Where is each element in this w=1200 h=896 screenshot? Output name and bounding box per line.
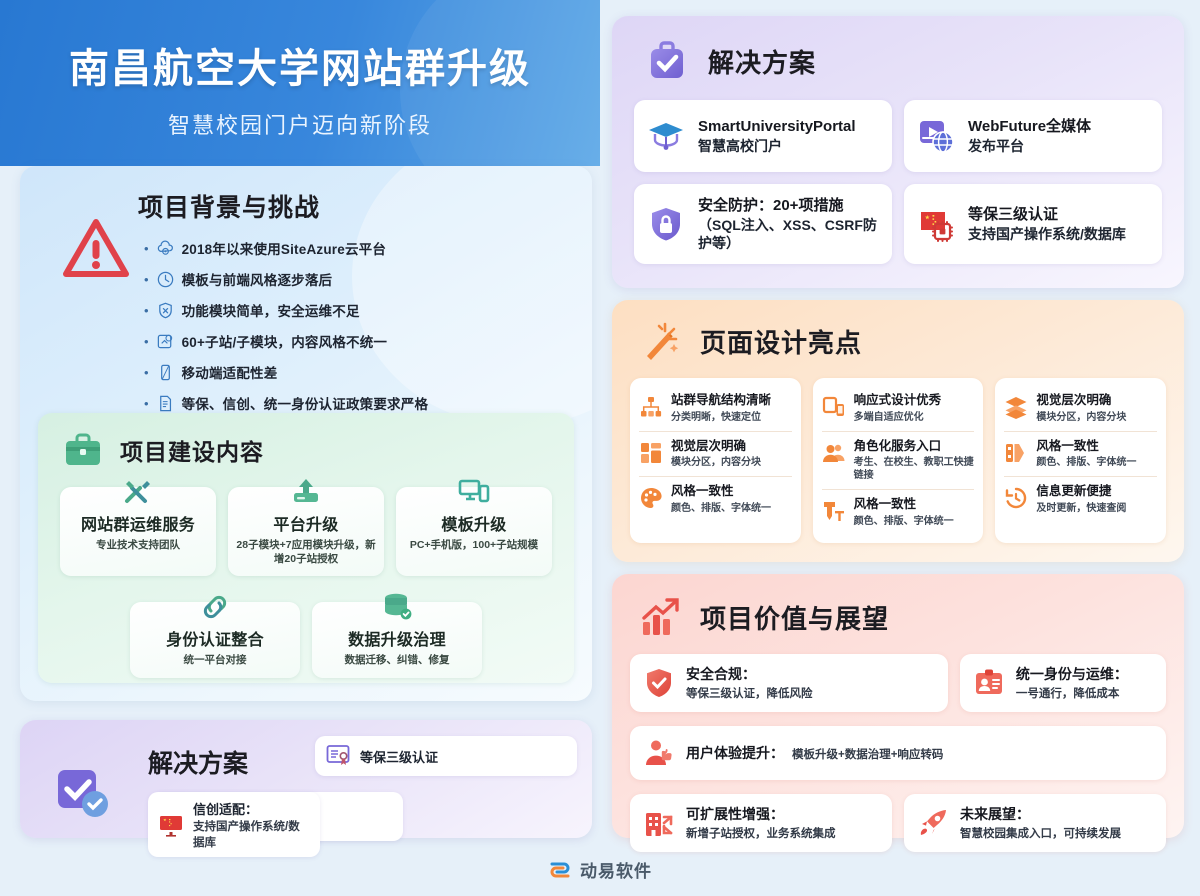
- list-item: • 2018年以来使用SiteAzure云平台: [144, 238, 592, 258]
- construction-card[interactable]: 身份认证整合 统一平台对接: [130, 602, 300, 677]
- value-row-2: 用户体验提升： 模板升级+数据治理+响应转码: [612, 712, 1184, 780]
- solution-left-title: 解决方案: [148, 744, 248, 780]
- value-row-3: 可扩展性增强：新增子站授权，业务系统集成 未来展望：智慧校园集成入口，可持续发展: [612, 780, 1184, 852]
- palette-icon: [639, 486, 663, 510]
- shield-x-icon: [156, 301, 175, 320]
- item-desc: 模块分区，内容分块: [671, 456, 761, 469]
- design-column: 视觉层次明确模块分区，内容分块 风格一致性颜色、排版、字体统一 信息更新便捷及时…: [995, 378, 1166, 543]
- check-briefcase-icon: [644, 38, 690, 84]
- design-item[interactable]: 风格一致性颜色、排版、字体统一: [1004, 431, 1157, 477]
- history-clock-icon: [1004, 486, 1028, 510]
- design-item[interactable]: 角色化服务入口考生、在校生、教职工快捷链接: [822, 431, 975, 490]
- card-desc: 28子模块+7应用模块升级，新增20子站授权: [234, 538, 378, 566]
- panel-solution-summary: 解决方案 等保三级认证 多终端适配： PC、手机、平板自适应 信创适配：: [20, 720, 592, 838]
- background-title: 项目背景与挑战: [138, 188, 592, 224]
- value-card[interactable]: 用户体验提升： 模板升级+数据治理+响应转码: [630, 726, 1166, 780]
- typography-icon: [822, 499, 846, 523]
- list-item: • 60+子站/子模块，内容风格不统一: [144, 331, 592, 351]
- card-title: 等保三级认证: [360, 747, 438, 766]
- card-desc: 一号通行，降低成本: [1016, 685, 1128, 701]
- bullet-dot: •: [144, 397, 149, 410]
- solution-card[interactable]: 安全防护：20+项措施 （SQL注入、XSS、CSRF防护等）: [634, 184, 892, 264]
- card-title: 身份认证整合: [136, 626, 294, 650]
- card-line1: 等保三级认证: [968, 205, 1126, 225]
- card-desc: 智慧校园集成入口，可持续发展: [960, 825, 1121, 841]
- card-title: 数据升级治理: [318, 626, 476, 650]
- construction-title: 项目建设内容: [120, 433, 264, 467]
- users-icon: [822, 441, 846, 465]
- rocket-icon: [917, 807, 949, 839]
- graduation-cap-icon: [646, 116, 686, 156]
- layout-blocks-icon: [639, 441, 663, 465]
- list-item: • 模板与前端风格逐步落后: [144, 269, 592, 289]
- link-icon: [198, 590, 232, 624]
- list-item-label: 2018年以来使用SiteAzure云平台: [182, 238, 387, 258]
- list-item: • 功能模块简单，安全运维不足: [144, 300, 592, 320]
- list-item-label: 移动端适配性差: [182, 362, 278, 382]
- item-desc: 颜色、排版、字体统一: [854, 515, 954, 528]
- item-desc: 颜色、排版、字体统一: [671, 502, 771, 515]
- construction-card[interactable]: 数据升级治理 数据迁移、纠错、修复: [312, 602, 482, 677]
- magic-wand-icon: [638, 318, 684, 364]
- check-square-icon: [56, 768, 112, 820]
- design-title: 页面设计亮点: [700, 323, 862, 360]
- item-title: 风格一致性: [1036, 439, 1136, 455]
- card-line1: WebFuture全媒体: [968, 117, 1091, 137]
- bullet-dot: •: [144, 242, 149, 255]
- bullet-dot: •: [144, 366, 149, 379]
- panel-project-value: 项目价值与展望 安全合规：等保三级认证，降低风险 统一身份与运维：一号通行，降低…: [612, 574, 1184, 838]
- card-desc: 数据迁移、纠错、修复: [318, 653, 476, 667]
- cloud-gear-icon: [156, 239, 175, 258]
- item-title: 风格一致性: [671, 484, 771, 500]
- database-icon: [380, 590, 414, 624]
- list-item-label: 模板与前端风格逐步落后: [182, 269, 333, 289]
- design-item[interactable]: 风格一致性颜色、排版、字体统一: [639, 476, 792, 522]
- upload-icon: [289, 475, 323, 509]
- china-chip-icon: [916, 204, 956, 244]
- construction-card[interactable]: 网站群运维服务 专业技术支持团队: [60, 487, 216, 576]
- list-item-label: 60+子站/子模块，内容风格不统一: [182, 331, 388, 351]
- card-desc: 统一平台对接: [136, 653, 294, 667]
- list-item-label: 等保、信创、统一身份认证政策要求严格: [182, 393, 429, 413]
- infographic-page: 南昌航空大学网站群升级 智慧校园门户迈向新阶段 项目背景与挑战 • 2018年以…: [0, 0, 1200, 896]
- panel-project-background: 项目背景与挑战 • 2018年以来使用SiteAzure云平台 • 模板与前端风…: [20, 166, 592, 701]
- solution-card[interactable]: 信创适配： 支持国产操作系统/数据库: [148, 792, 320, 857]
- value-card[interactable]: 未来展望：智慧校园集成入口，可持续发展: [904, 794, 1166, 852]
- card-desc: 支持国产操作系统/数据库: [193, 818, 310, 850]
- sitemap-icon: [639, 395, 663, 419]
- list-item-label: 功能模块简单，安全运维不足: [182, 300, 360, 320]
- item-title: 视觉层次明确: [671, 439, 761, 455]
- devices-icon: [457, 475, 491, 509]
- list-item: • 等保、信创、统一身份认证政策要求严格: [144, 393, 592, 413]
- shield-check-icon: [643, 667, 675, 699]
- lock-shield-icon: [646, 204, 686, 244]
- bullet-dot: •: [144, 273, 149, 286]
- card-title: 未来展望：: [960, 805, 1121, 823]
- solution-card[interactable]: WebFuture全媒体 发布平台: [904, 100, 1162, 172]
- footer: 动易软件: [0, 857, 1200, 882]
- item-title: 信息更新便捷: [1036, 484, 1126, 500]
- page-subtitle: 智慧校园门户迈向新阶段: [0, 108, 600, 140]
- card-title: 平台升级: [234, 511, 378, 535]
- responsive-devices-icon: [822, 395, 846, 419]
- item-desc: 及时更新，快速查阅: [1036, 502, 1126, 515]
- construction-row-2: 身份认证整合 统一平台对接 数据升级治理 数据迁移、纠错、修复: [38, 576, 574, 677]
- layers-icon: [1004, 395, 1028, 419]
- china-monitor-icon: [158, 812, 184, 838]
- bullet-dot: •: [144, 335, 149, 348]
- item-desc: 考生、在校生、教职工快捷链接: [854, 456, 975, 482]
- certificate-icon: [325, 743, 351, 769]
- document-icon: [156, 394, 175, 413]
- panel-solutions: 解决方案 SmartUniversityPortal 智慧高校门户 WebFut…: [612, 16, 1184, 288]
- value-card[interactable]: 统一身份与运维：一号通行，降低成本: [960, 654, 1166, 712]
- construction-card[interactable]: 平台升级 28子模块+7应用模块升级，新增20子站授权: [228, 487, 384, 576]
- card-desc: 新增子站授权，业务系统集成: [686, 825, 836, 841]
- card-line1: 安全防护：20+项措施: [698, 196, 880, 216]
- tools-icon: [121, 475, 155, 509]
- design-column: 响应式设计优秀多端自适应优化 角色化服务入口考生、在校生、教职工快捷链接 风格一…: [813, 378, 984, 543]
- card-title-row: 用户体验提升： 模板升级+数据治理+响应转码: [686, 744, 943, 763]
- briefcase-icon: [60, 427, 106, 473]
- user-thumbsup-icon: [643, 737, 675, 769]
- network-grid-icon: [156, 332, 175, 351]
- solution-card[interactable]: 等保三级认证: [315, 736, 577, 776]
- value-row-1: 安全合规：等保三级认证，降低风险 统一身份与运维：一号通行，降低成本: [612, 640, 1184, 712]
- design-column: 站群导航结构清晰分类明晰，快速定位 视觉层次明确模块分区，内容分块 风格一致性颜…: [630, 378, 801, 543]
- item-desc: 颜色、排版、字体统一: [1036, 456, 1136, 469]
- page-title: 南昌航空大学网站群升级: [0, 36, 600, 94]
- design-item[interactable]: 视觉层次明确模块分区，内容分块: [1004, 386, 1157, 431]
- panel-construction-content: 项目建设内容 网站群运维服务 专业技术支持团队 平台升级 28子模块+7应用模块…: [38, 413, 574, 683]
- item-title: 站群导航结构清晰: [671, 393, 771, 409]
- card-title: 用户体验提升：: [686, 744, 784, 762]
- challenge-list: • 2018年以来使用SiteAzure云平台 • 模板与前端风格逐步落后 • …: [144, 238, 592, 413]
- growth-chart-icon: [638, 594, 684, 640]
- construction-row-1: 网站群运维服务 专业技术支持团队 平台升级 28子模块+7应用模块升级，新增20…: [38, 473, 574, 576]
- solutions-title: 解决方案: [708, 43, 816, 80]
- solution-card[interactable]: SmartUniversityPortal 智慧高校门户: [634, 100, 892, 172]
- card-desc: 模板升级+数据治理+响应转码: [792, 748, 943, 763]
- card-line2: 支持国产操作系统/数据库: [968, 225, 1126, 243]
- dongyi-logo-icon: [548, 858, 572, 882]
- card-title: 安全合规：: [686, 665, 813, 683]
- id-card-icon: [973, 667, 1005, 699]
- item-title: 角色化服务入口: [854, 439, 975, 455]
- card-line2: （SQL注入、XSS、CSRF防护等）: [698, 216, 880, 252]
- bullet-dot: •: [144, 304, 149, 317]
- brand-name: 动易软件: [580, 857, 652, 882]
- item-title: 风格一致性: [854, 497, 954, 513]
- construction-card[interactable]: 模板升级 PC+手机版，100+子站规模: [396, 487, 552, 576]
- panel-design-highlights: 页面设计亮点 站群导航结构清晰分类明晰，快速定位 视觉层次明确模块分区，内容分块…: [612, 300, 1184, 562]
- card-title: 信创适配：: [193, 799, 310, 818]
- design-item[interactable]: 响应式设计优秀多端自适应优化: [822, 386, 975, 431]
- design-item[interactable]: 站群导航结构清晰分类明晰，快速定位: [639, 386, 792, 431]
- item-desc: 多端自适应优化: [854, 411, 942, 424]
- item-desc: 分类明晰，快速定位: [671, 411, 771, 424]
- card-title: 统一身份与运维：: [1016, 665, 1128, 683]
- play-globe-icon: [916, 116, 956, 156]
- card-desc: 等保三级认证，降低风险: [686, 685, 813, 701]
- card-desc: PC+手机版，100+子站规模: [402, 538, 546, 552]
- building-arrows-icon: [643, 807, 675, 839]
- swatches-icon: [1004, 441, 1028, 465]
- clock-icon: [156, 270, 175, 289]
- value-title: 项目价值与展望: [700, 599, 889, 636]
- solution-card[interactable]: 等保三级认证 支持国产操作系统/数据库: [904, 184, 1162, 264]
- card-title: 可扩展性增强：: [686, 805, 836, 823]
- card-title: 模板升级: [402, 511, 546, 535]
- list-item: • 移动端适配性差: [144, 362, 592, 382]
- design-item[interactable]: 信息更新便捷及时更新，快速查阅: [1004, 476, 1157, 522]
- mobile-icon: [156, 363, 175, 382]
- value-card[interactable]: 可扩展性增强：新增子站授权，业务系统集成: [630, 794, 892, 852]
- card-title: 网站群运维服务: [66, 511, 210, 535]
- item-title: 视觉层次明确: [1036, 393, 1126, 409]
- value-card[interactable]: 安全合规：等保三级认证，降低风险: [630, 654, 948, 712]
- page-header: 南昌航空大学网站群升级 智慧校园门户迈向新阶段: [0, 0, 600, 166]
- card-line1: SmartUniversityPortal: [698, 117, 856, 137]
- card-line2: 智慧高校门户: [698, 137, 856, 155]
- card-desc: 专业技术支持团队: [66, 538, 210, 552]
- item-desc: 模块分区，内容分块: [1036, 411, 1126, 424]
- design-item[interactable]: 视觉层次明确模块分区，内容分块: [639, 431, 792, 477]
- warning-triangle-icon: [62, 218, 130, 280]
- card-line2: 发布平台: [968, 137, 1091, 155]
- design-item[interactable]: 风格一致性颜色、排版、字体统一: [822, 489, 975, 535]
- item-title: 响应式设计优秀: [854, 393, 942, 409]
